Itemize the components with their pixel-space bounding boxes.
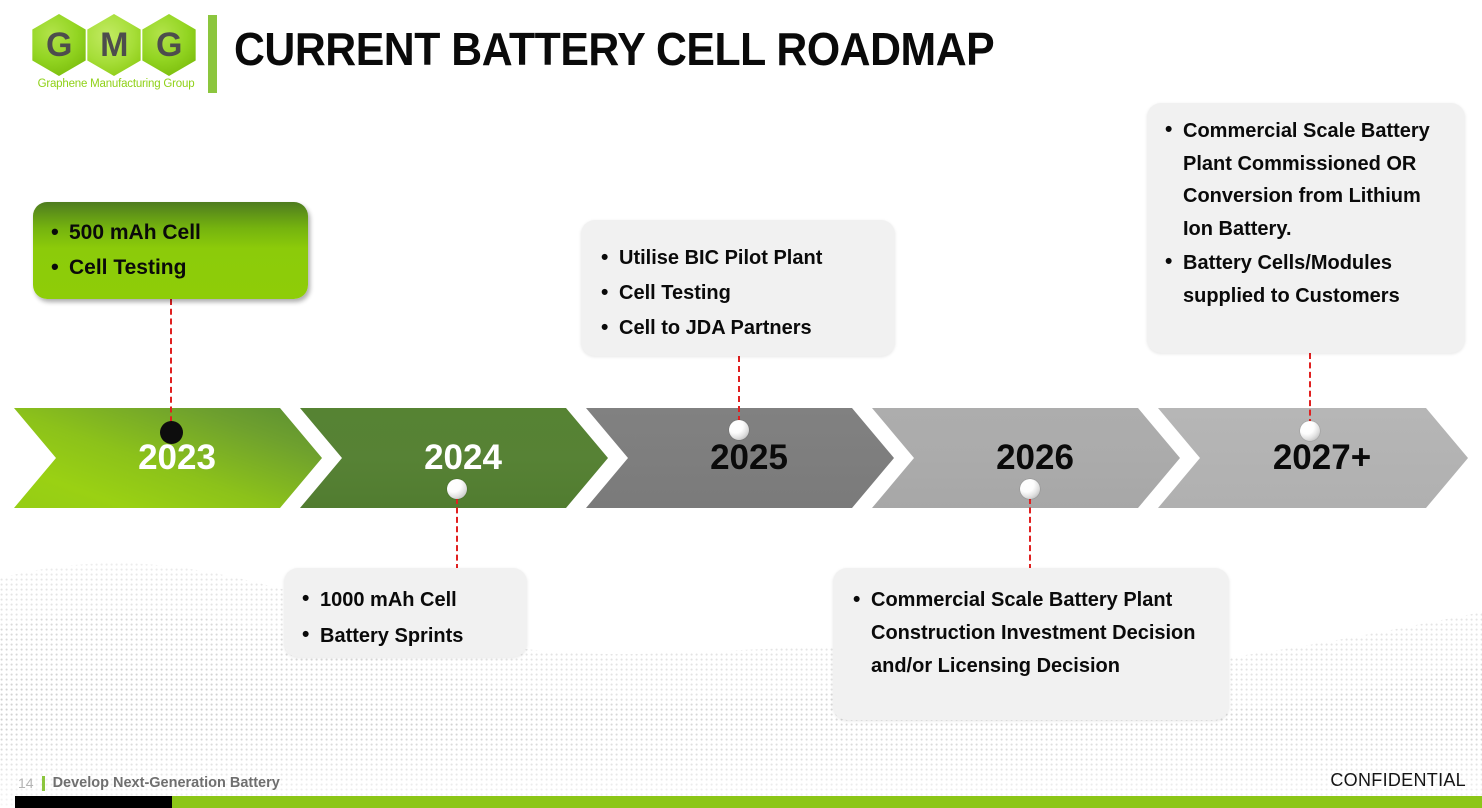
callout-2023-list: 500 mAh Cell Cell Testing xyxy=(47,216,292,284)
callout-2027: Commercial Scale Battery Plant Commissio… xyxy=(1147,103,1465,353)
slide-canvas: G M G Graphene Manufacturing Group CURRE… xyxy=(0,0,1482,808)
callout-2026: Commercial Scale Battery Plant Construct… xyxy=(833,568,1229,720)
timeline-step-label: 2023 xyxy=(138,438,216,478)
marker-dot-2023 xyxy=(160,421,183,444)
gmg-logo: G M G Graphene Manufacturing Group xyxy=(28,14,204,100)
list-item: Battery Cells/Modules supplied to Custom… xyxy=(1161,247,1453,312)
marker-dot-2025 xyxy=(729,420,749,440)
footer-subtitle: Develop Next-Generation Battery xyxy=(53,775,280,791)
connector-2027 xyxy=(1309,353,1311,425)
callout-2025: Utilise BIC Pilot Plant Cell Testing Cel… xyxy=(581,220,895,356)
confidential-label: CONFIDENTIAL xyxy=(1330,770,1466,791)
list-item: Utilise BIC Pilot Plant xyxy=(597,242,881,275)
header-divider xyxy=(208,15,217,93)
callout-2024-list: 1000 mAh Cell Battery Sprints xyxy=(298,583,515,653)
callout-2024: 1000 mAh Cell Battery Sprints xyxy=(284,568,527,657)
list-item: Commercial Scale Battery Plant Construct… xyxy=(849,584,1215,683)
connector-2026 xyxy=(1029,498,1031,570)
callout-2025-list: Utilise BIC Pilot Plant Cell Testing Cel… xyxy=(597,242,881,345)
timeline-step-label: 2027+ xyxy=(1273,438,1371,478)
marker-dot-2024 xyxy=(447,479,467,499)
footer-separator xyxy=(42,776,45,791)
marker-dot-2026 xyxy=(1020,479,1040,499)
list-item: 1000 mAh Cell xyxy=(298,583,515,617)
list-item: Cell Testing xyxy=(597,277,881,310)
list-item: Battery Sprints xyxy=(298,619,515,653)
marker-dot-2027 xyxy=(1300,421,1320,441)
logo-hex-g1: G xyxy=(28,14,90,76)
list-item: Cell Testing xyxy=(47,251,292,284)
footer-page-number: 14 xyxy=(18,775,34,791)
logo-hex-m: M xyxy=(83,14,145,76)
timeline-step-label: 2025 xyxy=(710,438,788,478)
footer-bar-green xyxy=(172,796,1482,808)
list-item: Commercial Scale Battery Plant Commissio… xyxy=(1161,115,1453,245)
list-item: Cell to JDA Partners xyxy=(597,312,881,345)
logo-hex-g2: G xyxy=(138,14,200,76)
connector-2023 xyxy=(170,299,172,432)
list-item: 500 mAh Cell xyxy=(47,216,292,249)
timeline-step-label: 2026 xyxy=(996,438,1074,478)
connector-2024 xyxy=(456,498,458,570)
footer-left: 14 Develop Next-Generation Battery xyxy=(18,775,280,791)
footer-bar-black xyxy=(15,796,172,808)
logo-hexagons: G M G xyxy=(28,14,204,76)
callout-2027-list: Commercial Scale Battery Plant Commissio… xyxy=(1161,115,1453,312)
timeline-step-label: 2024 xyxy=(424,438,502,478)
background-wave-texture xyxy=(0,508,1482,808)
logo-tagline: Graphene Manufacturing Group xyxy=(28,78,204,90)
callout-2023: 500 mAh Cell Cell Testing xyxy=(33,202,308,299)
callout-2026-list: Commercial Scale Battery Plant Construct… xyxy=(849,584,1215,683)
page-title: CURRENT BATTERY CELL ROADMAP xyxy=(234,22,994,76)
